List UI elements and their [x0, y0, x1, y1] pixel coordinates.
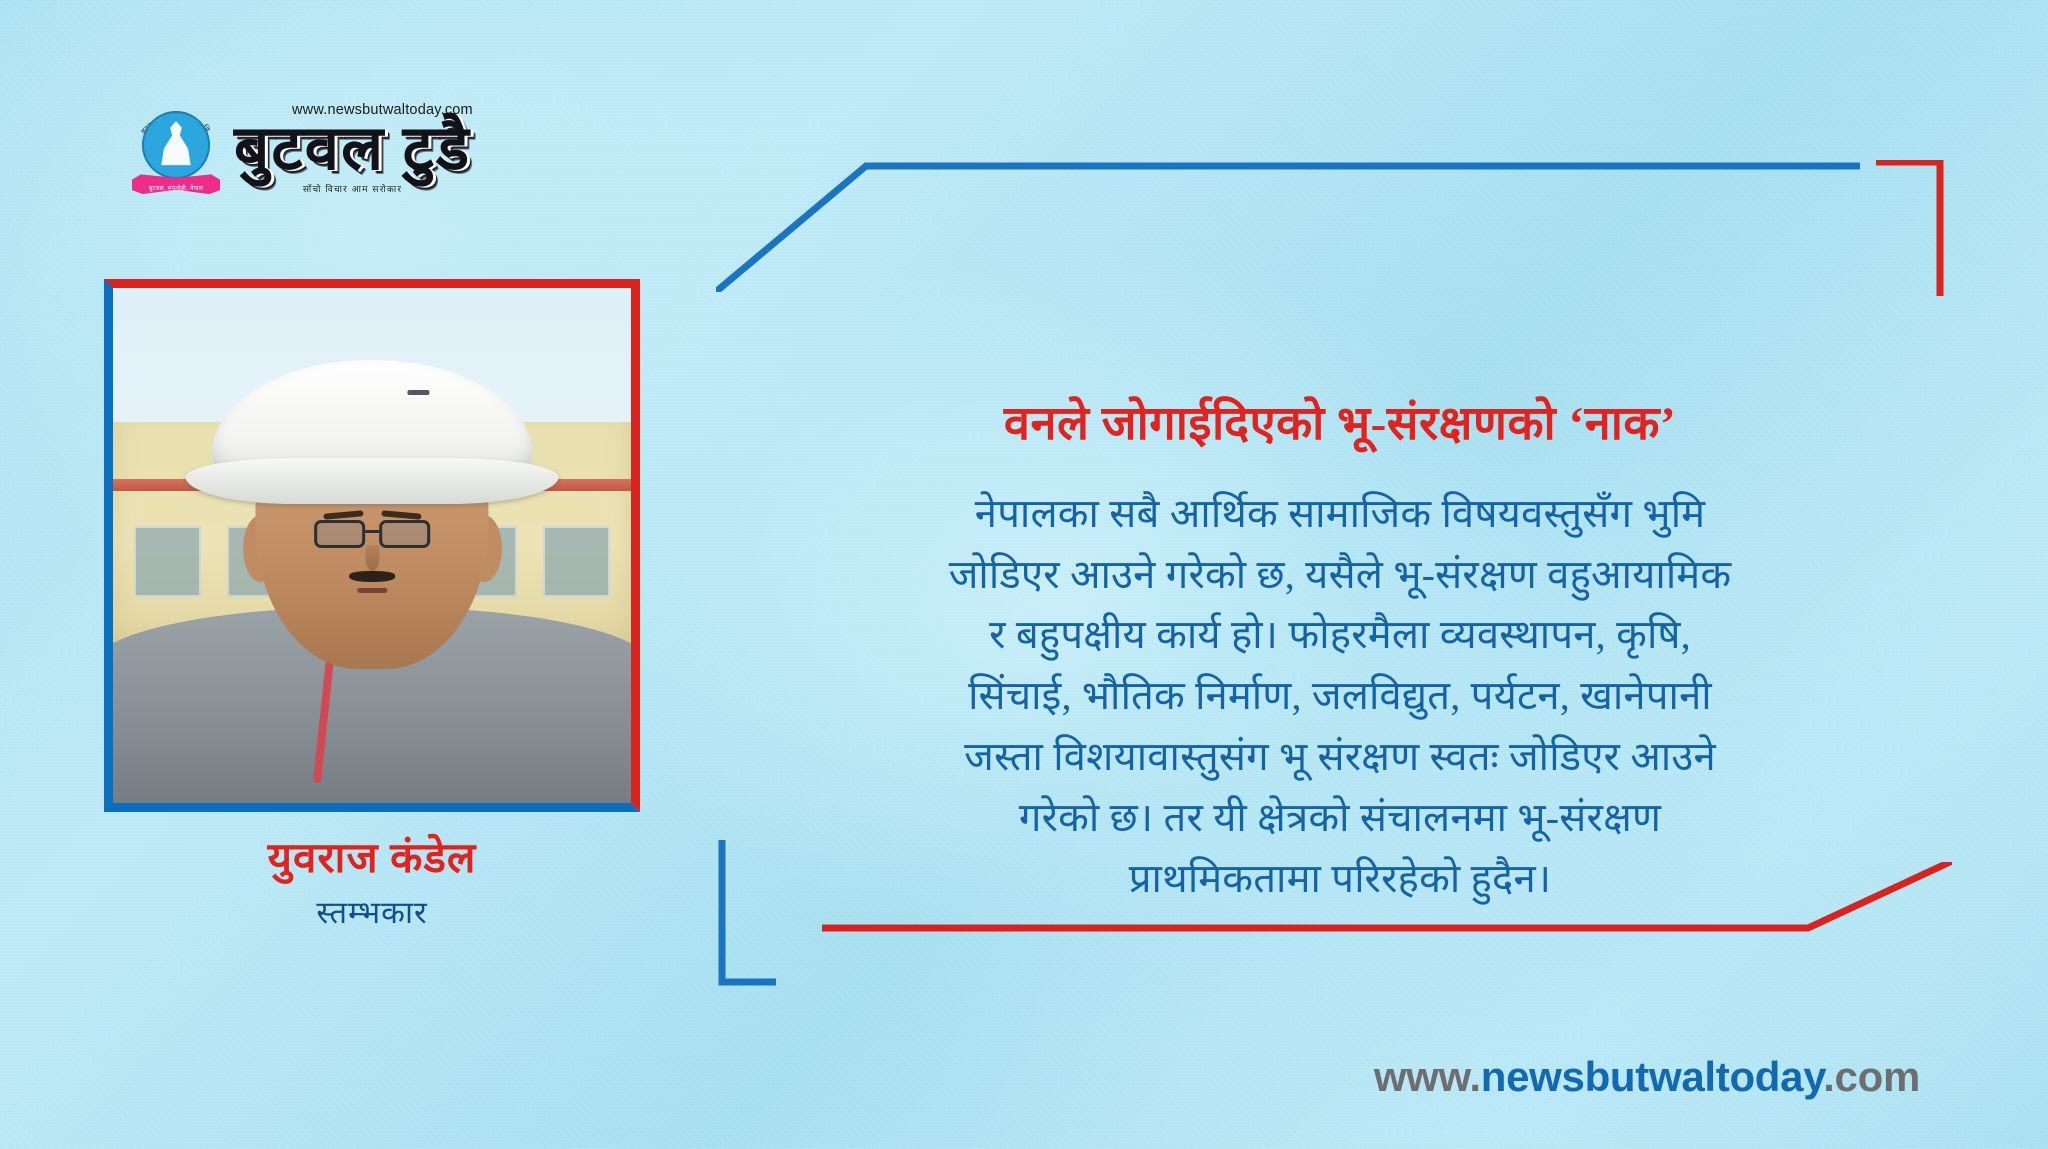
footer-site-url[interactable]: www.newsbutwaltoday.com — [1374, 1053, 1920, 1101]
article-body-line: गरेको छ। तर यी क्षेत्रको संचालनमा भू-संर… — [760, 788, 1920, 849]
article-block: वनले जोगाईदिएको भू-संरक्षणको ‘नाक’ नेपाल… — [760, 395, 1920, 909]
footer-url-prefix: www. — [1374, 1053, 1481, 1100]
article-body-line: नेपालका सबै आर्थिक सामाजिक विषयवस्तुसँग … — [760, 484, 1920, 545]
author-name: युवराज कंडेल — [104, 835, 640, 885]
article-body-line: जस्ता विशयावास्तुसंग भू संरक्षण स्वतः जो… — [760, 727, 1920, 788]
decor-line-top-blue — [716, 160, 1860, 292]
masthead-title: बुटवल टुडै — [234, 118, 471, 180]
article-body-line: प्राथमिकतामा परिरहेको हुदैन। — [760, 849, 1920, 910]
article-body-line: सिंचाई, भौतिक निर्माण, जलविद्युत, पर्यटन… — [760, 666, 1920, 727]
article-body-line: जोडिएर आउने गरेको छ, यसैले भू-संरक्षण वह… — [760, 545, 1920, 606]
article-headline: वनले जोगाईदिएको भू-संरक्षणको ‘नाक’ — [760, 395, 1920, 454]
masthead-wordmark-group: www.newsbutwaltoday.com बुटवल टुडै साँचो… — [234, 104, 471, 195]
emblem-ribbon-label: बुटवल, रुपन्देही, नेपाल — [128, 184, 224, 192]
author-caption: युवराज कंडेल स्तम्भकार — [104, 835, 640, 933]
article-body-line: र बहुपक्षीय कार्य हो। फोहरमैला व्यवस्थाप… — [760, 605, 1920, 666]
publisher-emblem-icon: बुटवल पब्लिकेशन्स प्रा. लि. बुटवल, रुपन्… — [128, 103, 224, 195]
article-body: नेपालका सबै आर्थिक सामाजिक विषयवस्तुसँग … — [760, 484, 1920, 910]
footer-url-name: newsbutwaltoday — [1481, 1053, 1823, 1100]
masthead-site-url[interactable]: www.newsbutwaltoday.com — [292, 102, 473, 118]
author-portrait — [104, 279, 640, 812]
author-role: स्तम्भकार — [104, 891, 640, 933]
decor-line-right-red — [1876, 160, 1946, 296]
masthead-logo[interactable]: बुटवल पब्लिकेशन्स प्रा. लि. बुटवल, रुपन्… — [128, 103, 471, 195]
masthead-tagline: साँचो विचार आम सरोकार — [234, 182, 471, 195]
portrait-frame-red — [104, 279, 640, 812]
footer-url-suffix: .com — [1823, 1053, 1920, 1100]
